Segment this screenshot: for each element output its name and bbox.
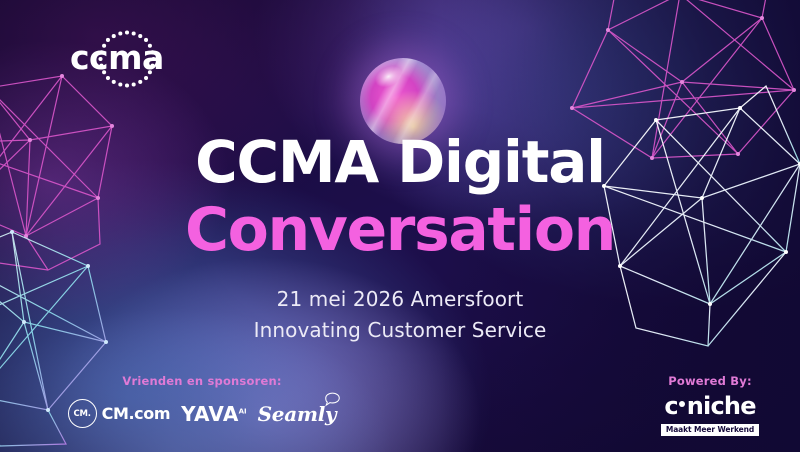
powered-by-section: Powered By: c niche Maakt Meer Werkend: [640, 374, 780, 437]
powered-by-caption: Powered By:: [640, 374, 780, 388]
sponsors-caption: Vrienden en sponsoren:: [52, 374, 352, 388]
subtitle-theme: Innovating Customer Service: [0, 315, 800, 346]
coniche-part-1: c: [664, 393, 677, 419]
sponsor-logo-yava[interactable]: YAVAAI: [181, 402, 247, 426]
cm-circle-icon: CM.: [68, 399, 97, 428]
speech-bubble-icon: [324, 392, 341, 407]
title-line-2: Conversation: [0, 196, 800, 264]
ccma-logo[interactable]: ccma: [70, 28, 198, 90]
coniche-part-2: niche: [687, 393, 756, 419]
sponsors-section: Vrienden en sponsoren: CM. CM.com YAVAAI…: [52, 374, 352, 428]
dot-icon: [679, 401, 685, 407]
sponsor-logo-row: CM. CM.com YAVAAI Seamly: [52, 399, 352, 428]
sponsor-logo-cm-com[interactable]: CM. CM.com: [68, 399, 171, 428]
cm-wordmark: CM.com: [102, 404, 171, 423]
sponsor-logo-seamly[interactable]: Seamly: [258, 402, 337, 426]
ccma-wordmark: ccma: [70, 40, 198, 76]
event-subtitle: 21 mei 2026 Amersfoort Innovating Custom…: [0, 284, 800, 346]
yava-wordmark: YAVA: [181, 402, 239, 426]
event-banner: ccma CCMA Digital Conversation 21 mei 20…: [0, 0, 800, 452]
page-title: CCMA Digital Conversation: [0, 130, 800, 264]
yava-superscript: AI: [239, 407, 247, 415]
title-line-1: CCMA Digital: [0, 130, 800, 194]
coniche-logo[interactable]: c niche: [640, 393, 780, 419]
coniche-tagline: Maakt Meer Werkend: [661, 424, 759, 436]
subtitle-date-location: 21 mei 2026 Amersfoort: [0, 284, 800, 315]
